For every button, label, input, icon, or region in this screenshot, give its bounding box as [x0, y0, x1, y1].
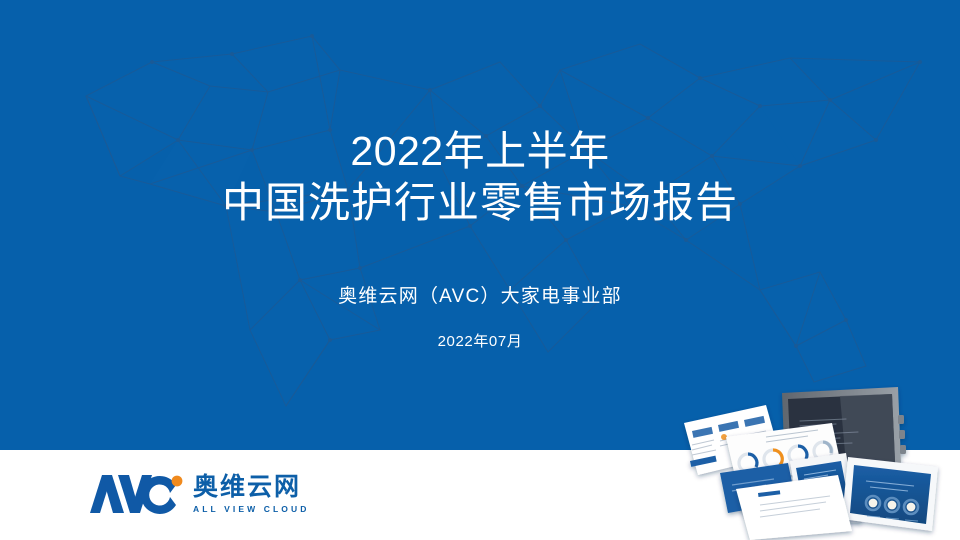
slide-title: 2022年上半年 中国洗护行业零售市场报告: [0, 126, 960, 228]
logo-chinese-name: 奥维云网: [193, 473, 309, 501]
logo-wordmark: 奥维云网 ALL VIEW CLOUD: [193, 473, 309, 515]
title-slide: .ln { stroke:#1b5a96; stroke-width:1; fi…: [0, 0, 960, 540]
slide-subtitle: 奥维云网（AVC）大家电事业部: [0, 281, 960, 308]
title-line-2: 中国洗护行业零售市场报告: [0, 177, 960, 228]
avc-logomark-icon: [88, 473, 184, 515]
slide-date: 2022年07月: [0, 330, 960, 351]
tablet-icon: [842, 457, 938, 531]
logo-english-name: ALL VIEW CLOUD: [193, 503, 309, 515]
title-line-1: 2022年上半年: [0, 126, 960, 177]
avc-logo: 奥维云网 ALL VIEW CLOUD: [88, 466, 338, 522]
device-report-collage-icon: [670, 385, 960, 540]
hero-panel: .ln { stroke:#1b5a96; stroke-width:1; fi…: [0, 0, 960, 450]
